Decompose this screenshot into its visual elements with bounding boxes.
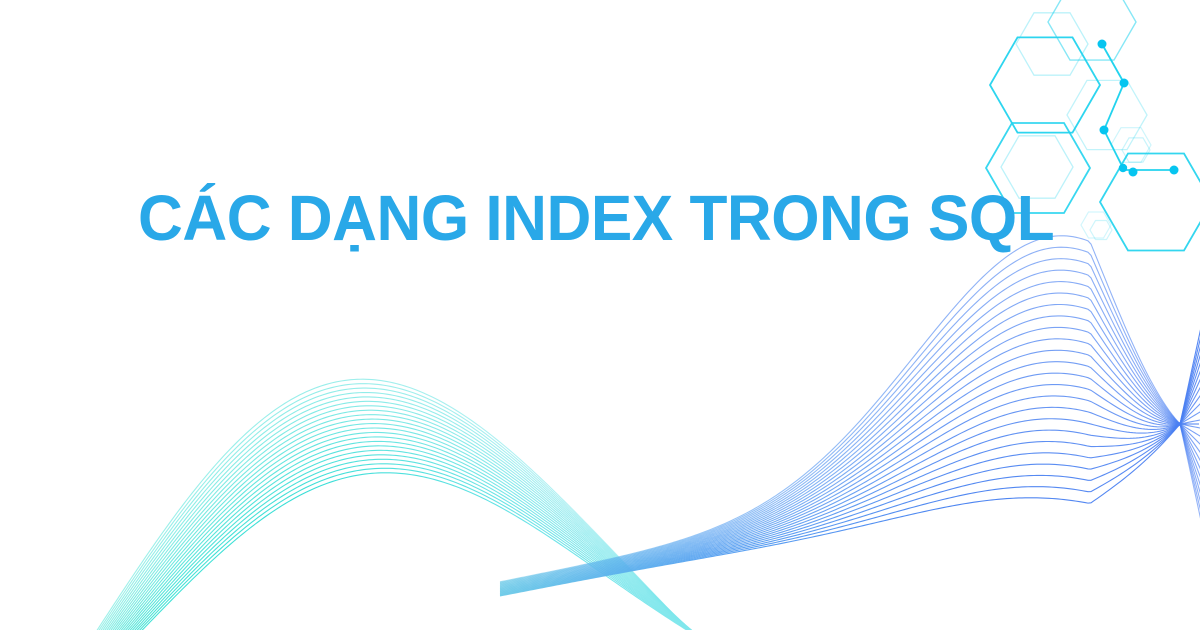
wave-strand bbox=[500, 259, 1200, 583]
wave-strand bbox=[500, 293, 1200, 585]
wave-strand bbox=[500, 362, 1200, 593]
wave-strand bbox=[90, 397, 720, 630]
wave-strand bbox=[500, 316, 1200, 586]
hexagon-connector bbox=[1102, 44, 1124, 83]
wave-decoration-layer bbox=[0, 0, 1200, 630]
hexagon-outline bbox=[1048, 0, 1136, 60]
hexagon-outline bbox=[1100, 154, 1200, 251]
wave-strand bbox=[500, 270, 1200, 584]
wave-strand bbox=[90, 388, 720, 630]
wave-strand bbox=[500, 381, 1200, 592]
wave-strand bbox=[90, 384, 720, 630]
wave-strand bbox=[90, 379, 720, 630]
wave-strand bbox=[90, 428, 720, 630]
hexagon-connector bbox=[1104, 83, 1124, 130]
hexagon-connector bbox=[1104, 130, 1124, 170]
wave-strand bbox=[500, 247, 1200, 582]
banner-canvas: CÁC DẠNG INDEX TRONG SQL bbox=[0, 0, 1200, 630]
wave-strand bbox=[500, 282, 1200, 585]
wave-strand bbox=[500, 305, 1200, 586]
blue-wave-band bbox=[500, 236, 1200, 596]
wave-strand bbox=[500, 342, 1200, 594]
wave-strand bbox=[500, 396, 1200, 590]
wave-strand bbox=[500, 362, 1200, 589]
wave-strand bbox=[500, 323, 1200, 595]
wave-strand bbox=[90, 424, 720, 630]
hexagon-node-dot bbox=[1098, 40, 1107, 49]
hexagon-node-dot bbox=[1119, 164, 1127, 172]
page-title: CÁC DẠNG INDEX TRONG SQL bbox=[138, 186, 1011, 250]
hexagon-outline bbox=[1122, 138, 1150, 162]
hexagon-network-decoration bbox=[0, 0, 1200, 630]
teal-wave-band bbox=[90, 379, 720, 630]
wave-strand bbox=[90, 410, 720, 630]
wave-strand bbox=[90, 459, 720, 630]
wave-strand bbox=[500, 390, 1200, 591]
wave-strand bbox=[500, 352, 1200, 594]
hexagon-outline bbox=[990, 37, 1100, 132]
wave-strand bbox=[90, 401, 720, 630]
wave-strand bbox=[90, 446, 720, 630]
hexagon-outline bbox=[1081, 212, 1111, 238]
wave-strand bbox=[500, 385, 1200, 590]
wave-strand bbox=[90, 392, 720, 630]
wave-strand bbox=[500, 333, 1200, 595]
wave-strand bbox=[90, 450, 720, 630]
wave-strand bbox=[500, 339, 1200, 588]
hexagon-node-dot bbox=[1170, 166, 1179, 175]
hexagon-node-dot bbox=[1120, 79, 1129, 88]
wave-strand bbox=[90, 437, 720, 630]
hexagon-node-dot bbox=[1100, 126, 1109, 135]
wave-strand bbox=[90, 441, 720, 630]
wave-strand bbox=[500, 236, 1200, 582]
wave-strand bbox=[500, 371, 1200, 592]
wave-strand bbox=[90, 464, 720, 630]
hexagon-outline bbox=[1016, 13, 1088, 75]
hexagon-node-dot bbox=[1129, 168, 1138, 177]
wave-strand bbox=[90, 468, 720, 630]
wave-strand bbox=[500, 314, 1200, 596]
title-block: CÁC DẠNG INDEX TRONG SQL bbox=[138, 186, 1038, 250]
wave-strand bbox=[90, 406, 720, 630]
hexagon-outline bbox=[1090, 220, 1112, 239]
wave-strand bbox=[90, 455, 720, 630]
hexagon-outline bbox=[1111, 128, 1151, 163]
hexagon-outline bbox=[1067, 80, 1147, 149]
wave-strand bbox=[90, 473, 720, 630]
wave-strand bbox=[500, 350, 1200, 588]
wave-strand bbox=[500, 327, 1200, 586]
wave-strand bbox=[90, 432, 720, 630]
wave-strand bbox=[90, 415, 720, 630]
wave-strand bbox=[90, 419, 720, 630]
wave-strand bbox=[500, 373, 1200, 589]
